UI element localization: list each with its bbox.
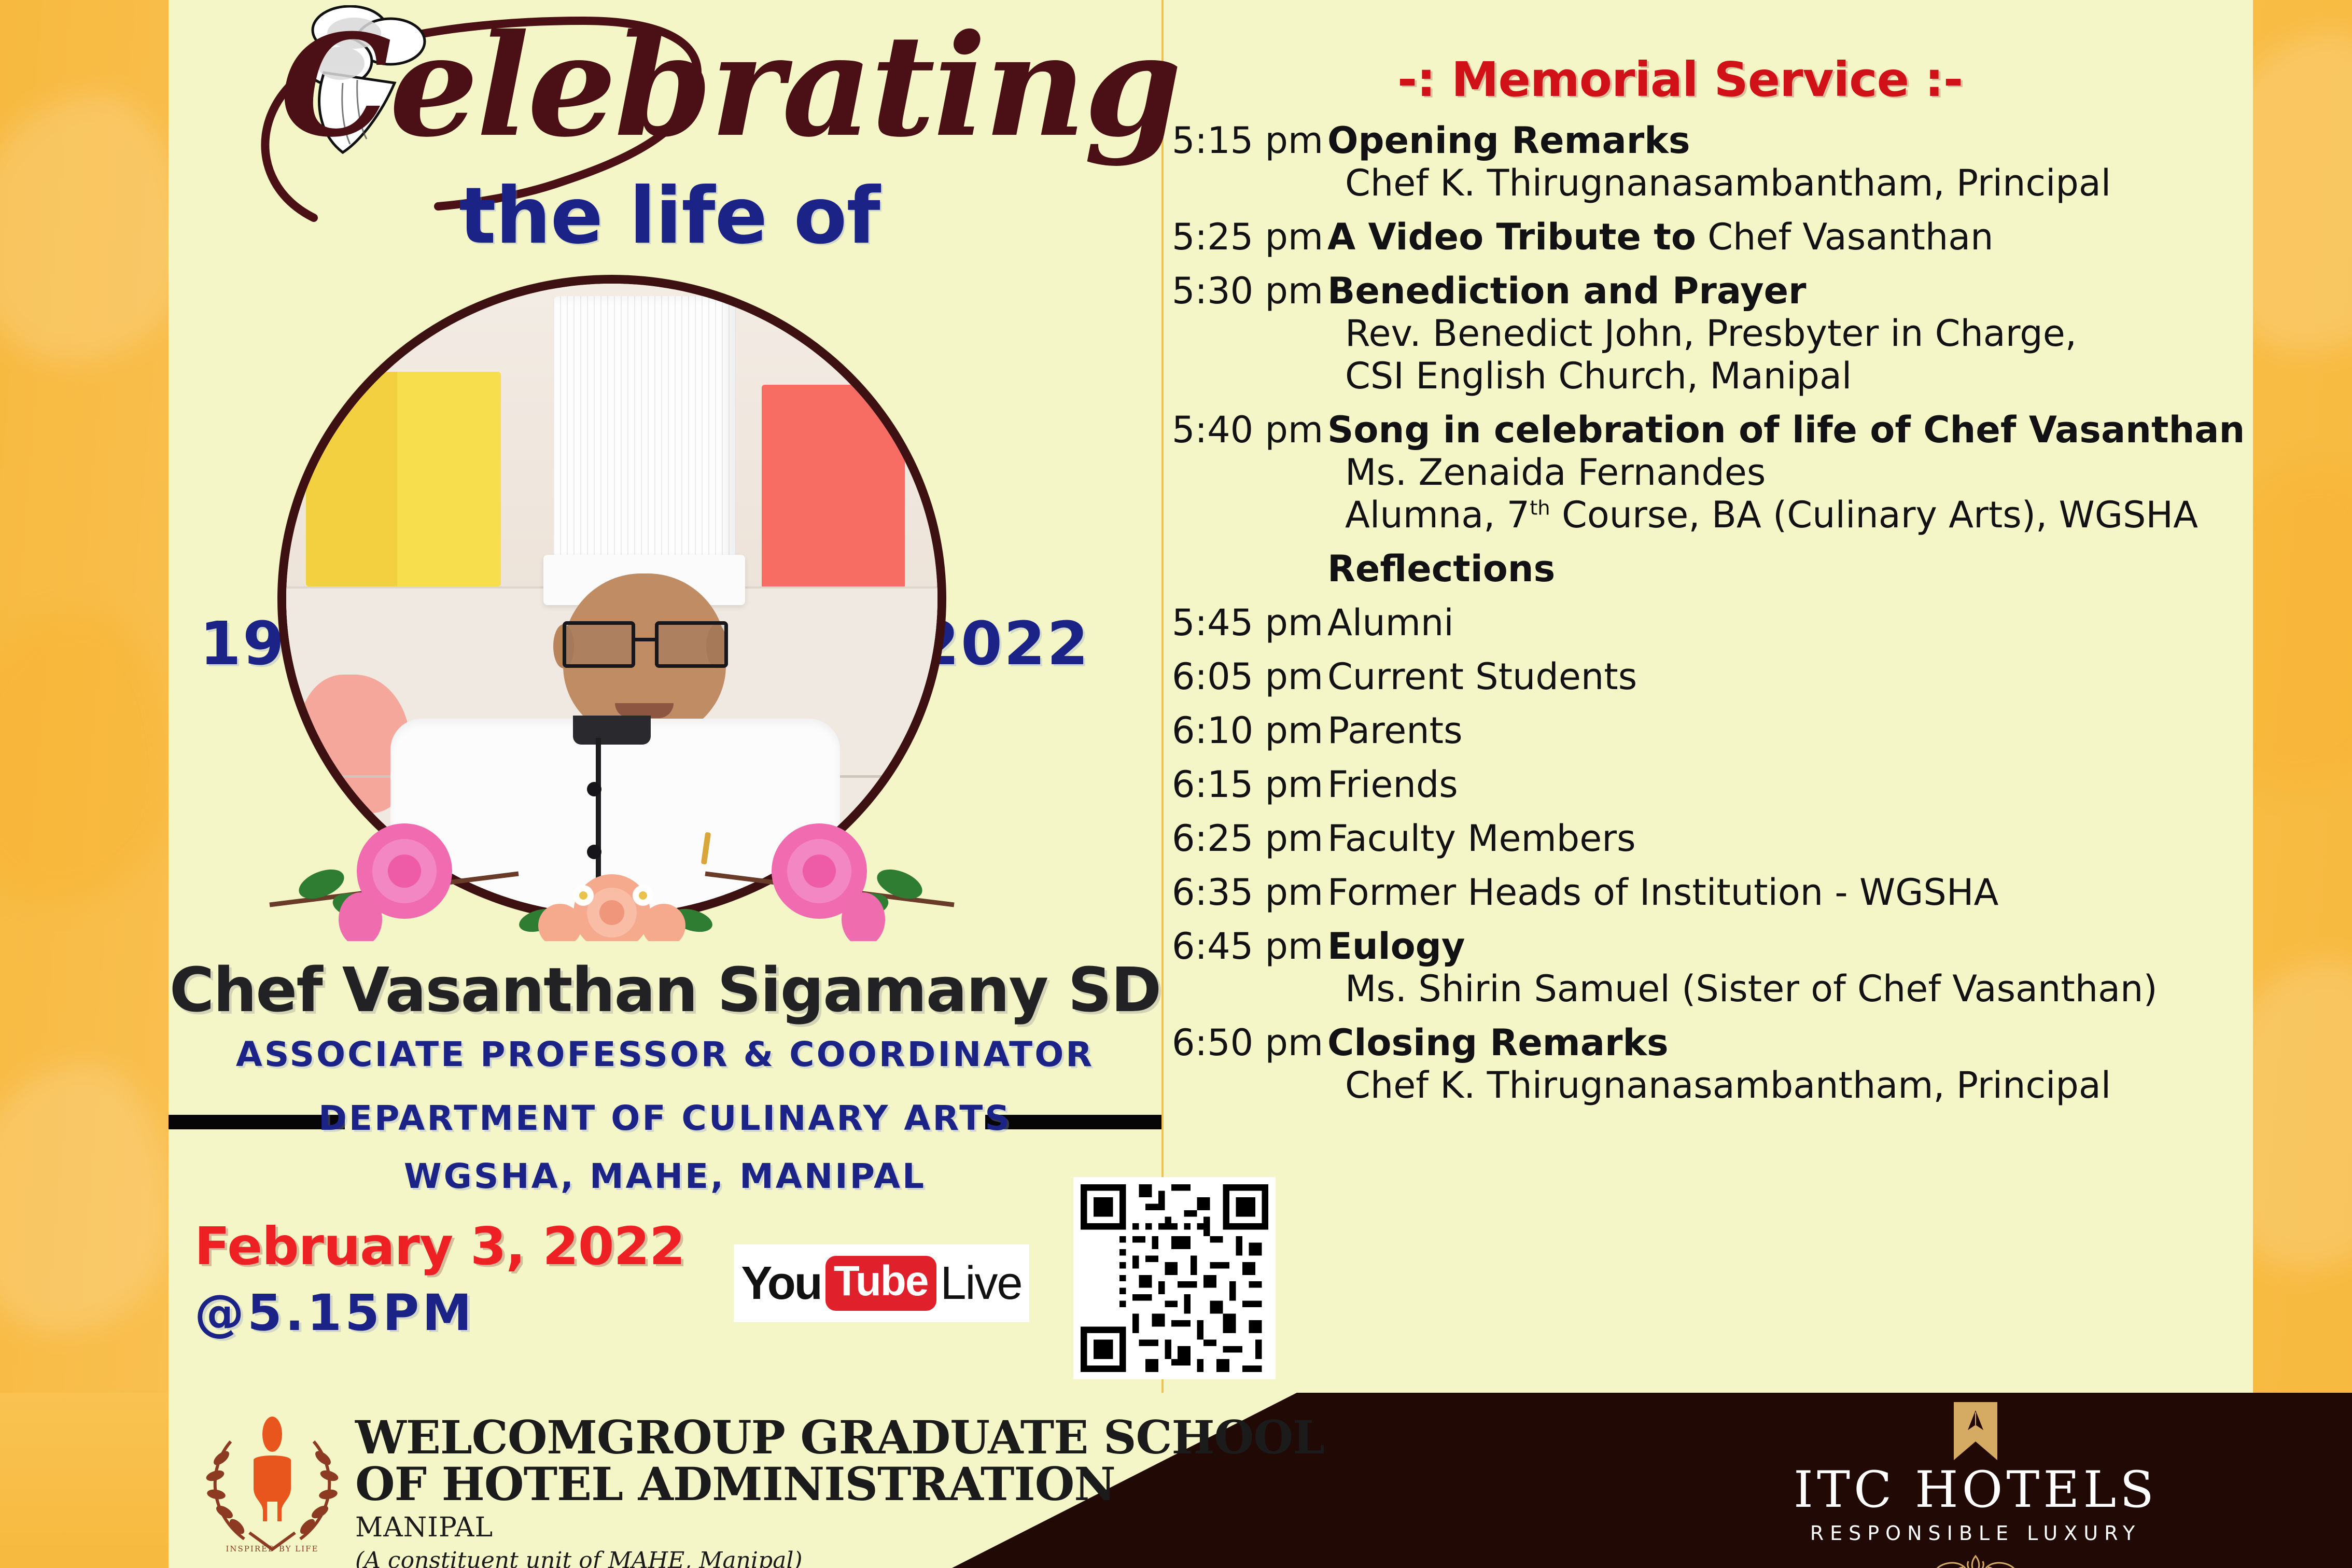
schedule-gap — [1172, 698, 2240, 709]
schedule-time: 6:15 pm — [1172, 763, 1327, 806]
schedule-gap — [1172, 1010, 2240, 1021]
schedule-title: Alumni — [1327, 601, 2240, 644]
schedule-title: Opening Remarks — [1327, 119, 2240, 162]
schedule-time: 6:35 pm — [1172, 871, 1327, 914]
schedule-title: Parents — [1327, 709, 2240, 752]
wgsha-city: MANIPAL — [355, 1512, 1324, 1543]
schedule-gap — [1172, 1107, 2240, 1118]
schedule-title: Current Students — [1327, 655, 2240, 698]
itc-hotels-brand: ITC HOTELS RESPONSIBLE LUXURY — [1753, 1402, 2199, 1560]
schedule-time: 6:10 pm — [1172, 709, 1327, 752]
schedule-gap — [1172, 806, 2240, 817]
schedule-time: 6:05 pm — [1172, 655, 1327, 698]
event-time: @5.15PM — [194, 1284, 661, 1342]
schedule-time: 6:50 pm — [1172, 1021, 1327, 1064]
event-datetime: February 3, 2022 @5.15PM — [194, 1216, 661, 1342]
schedule-time: 5:40 pm — [1172, 409, 1327, 451]
schedule-gap — [1172, 590, 2240, 601]
schedule-row: 5:25 pmA Video Tribute to Chef Vasanthan — [1172, 216, 2240, 258]
right-column: -: Memorial Service :- 5:15 pmOpening Re… — [1172, 0, 2250, 1393]
celebrating-title: Celebrating — [280, 16, 1006, 187]
schedule-row: 6:10 pmParents — [1172, 709, 2240, 752]
wgsha-line2: OF HOTEL ADMINISTRATION — [355, 1461, 1324, 1508]
youtube-you-text: You — [741, 1257, 821, 1310]
schedule-title: Faculty Members — [1327, 817, 2240, 860]
schedule-time: 5:15 pm — [1172, 119, 1327, 162]
schedule-gap — [1172, 914, 2240, 925]
event-date: February 3, 2022 — [194, 1216, 661, 1277]
wgsha-laurel-flame-logo: INSPIRED BY LIFE — [200, 1410, 345, 1556]
schedule-time: 5:45 pm — [1172, 601, 1327, 644]
schedule-title: A Video Tribute to Chef Vasanthan — [1327, 216, 2240, 258]
schedule-row: 6:45 pmEulogy — [1172, 925, 2240, 968]
schedule-title: Reflections — [1327, 548, 2240, 590]
youtube-tube-text: Tube — [825, 1256, 936, 1311]
schedule-gap — [1172, 644, 2240, 655]
schedule-detail: Alumna, 7th Course, BA (Culinary Arts), … — [1327, 494, 2240, 536]
chef-name: Chef Vasanthan Sigamany SD — [169, 954, 1161, 1026]
chef-role: ASSOCIATE PROFESSOR & COORDINATOR — [169, 1034, 1161, 1074]
schedule-time: 6:25 pm — [1172, 817, 1327, 860]
wgsha-motto: INSPIRED BY LIFE — [226, 1544, 318, 1553]
schedule-gap — [1172, 397, 2240, 409]
schedule-title: Friends — [1327, 763, 2240, 806]
schedule-detail: Chef K. Thirugnanasambantham, Principal — [1327, 162, 2240, 204]
schedule-title: Benediction and Prayer — [1327, 270, 2240, 312]
schedule-gap — [1172, 752, 2240, 763]
poster-footer: INSPIRED BY LIFE WELCOMGROUP GRADUATE SC… — [0, 1393, 2352, 1568]
wgsha-brand: INSPIRED BY LIFE WELCOMGROUP GRADUATE SC… — [200, 1405, 1159, 1561]
schedule-time: 5:30 pm — [1172, 270, 1327, 312]
schedule-detail: Rev. Benedict John, Presbyter in Charge, — [1327, 312, 2240, 355]
frame-blob — [0, 612, 176, 902]
memorial-service-title: -: Memorial Service :- — [1172, 52, 2188, 107]
schedule-detail: Chef K. Thirugnanasambantham, Principal — [1327, 1064, 2240, 1107]
schedule-row: 5:45 pmAlumni — [1172, 601, 2240, 644]
schedule-time: 5:25 pm — [1172, 216, 1327, 258]
schedule-gap — [1172, 536, 2240, 548]
schedule-row: 5:30 pmBenediction and Prayer — [1172, 270, 2240, 312]
chef-department: DEPARTMENT OF CULINARY ARTS — [169, 1098, 1161, 1138]
youtube-live-text: Live — [941, 1257, 1022, 1310]
wgsha-unit-note: (A constituent unit of MAHE, Manipal) — [355, 1547, 1324, 1568]
schedule-title: Closing Remarks — [1327, 1021, 2240, 1064]
itc-ornament-divider — [1779, 1552, 2173, 1568]
schedule-row: 6:05 pmCurrent Students — [1172, 655, 2240, 698]
itc-hotels-name: ITC HOTELS — [1753, 1465, 2199, 1515]
frame-blob — [0, 93, 187, 363]
schedule-time: 6:45 pm — [1172, 925, 1327, 968]
schedule-row: 5:15 pmOpening Remarks — [1172, 119, 2240, 162]
schedule-gap — [1172, 204, 2240, 216]
memorial-poster: Celebrating the life of 1974 2022 — [0, 0, 2352, 1568]
schedule-row: 6:15 pmFriends — [1172, 763, 2240, 806]
youtube-live-badge[interactable]: You Tube Live — [734, 1244, 1029, 1322]
schedule-row: 6:25 pmFaculty Members — [1172, 817, 2240, 860]
schedule-detail: Ms. Zenaida Fernandes — [1327, 451, 2240, 494]
schedule-row: 6:35 pmFormer Heads of Institution - WGS… — [1172, 871, 2240, 914]
left-column: Celebrating the life of 1974 2022 — [169, 0, 1161, 1393]
the-life-of-subtitle: the life of — [459, 171, 880, 261]
itc-hotels-tagline: RESPONSIBLE LUXURY — [1753, 1522, 2199, 1545]
schedule-title: Eulogy — [1327, 925, 2240, 968]
chef-institution: WGSHA, MAHE, MANIPAL — [169, 1156, 1161, 1196]
schedule-title: Former Heads of Institution - WGSHA — [1327, 871, 2240, 914]
schedule-row: 5:40 pmSong in celebration of life of Ch… — [1172, 409, 2240, 451]
frame-blob — [0, 1063, 171, 1333]
schedule-detail: Ms. Shirin Samuel (Sister of Chef Vasant… — [1327, 968, 2240, 1010]
schedule-title: Song in celebration of life of Chef Vasa… — [1327, 409, 2245, 451]
schedule-gap — [1172, 258, 2240, 270]
chef-portrait-photo — [277, 275, 946, 923]
schedule-row: 6:50 pmClosing Remarks — [1172, 1021, 2240, 1064]
itc-namaste-icon — [1951, 1402, 2000, 1460]
service-schedule: 5:15 pmOpening RemarksChef K. Thirugnana… — [1172, 119, 2240, 1118]
schedule-gap — [1172, 860, 2240, 871]
wgsha-line1: WELCOMGROUP GRADUATE SCHOOL — [355, 1415, 1324, 1461]
schedule-row: Reflections — [1172, 548, 2240, 590]
footer-frame-left — [0, 1393, 169, 1568]
schedule-detail: CSI English Church, Manipal — [1327, 355, 2240, 397]
